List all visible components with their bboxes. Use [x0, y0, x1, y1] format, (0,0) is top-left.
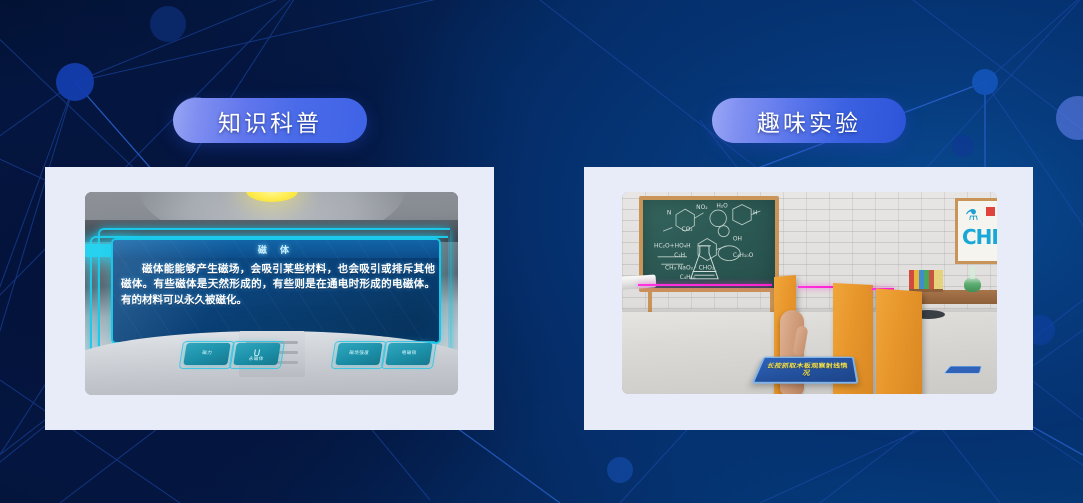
console-button-3[interactable]: 磁场强度: [335, 343, 382, 365]
console-button-4[interactable]: 电磁铁: [385, 343, 432, 365]
network-node: [607, 457, 633, 483]
console-button-3-label: 磁场强度: [349, 351, 370, 357]
console-button-2[interactable]: U 永磁体: [233, 343, 280, 365]
screen-title: 磁 体: [113, 240, 439, 258]
pill-label-knowledge: 知识科普: [218, 104, 322, 138]
network-node: [952, 135, 974, 157]
poster-title: CHE: [962, 225, 997, 249]
network-node: [972, 69, 998, 95]
svg-text:HC₂O+HO₄H: HC₂O+HO₄H: [654, 243, 691, 250]
svg-text:NO₂: NO₂: [696, 204, 708, 211]
info-display-screen: 磁 体 磁体能能够产生磁场，会吸引某些材料，也会吸引或排斥其他磁体。有些磁体是天…: [111, 238, 441, 344]
beaker-icon: [961, 266, 983, 292]
pill-label-experiment: 趣味实验: [757, 104, 861, 138]
photo-magnet-knowledge-screen: 磁 体 磁体能能够产生磁场，会吸引某些材料，也会吸引或排斥其他磁体。有些磁体是天…: [85, 192, 458, 395]
poster-red-mark: [986, 207, 995, 216]
card-fun-experiment[interactable]: NNO₂H₂O CO₂HOH HC₂O+HO₄HC₂H CH₃ NaO₂ · C…: [584, 167, 1033, 430]
chemistry-poster: ⚗ CHE: [955, 198, 997, 264]
svg-text:H₂O: H₂O: [716, 202, 728, 209]
tab-fun-experiment[interactable]: 趣味实验: [712, 98, 906, 143]
network-node: [150, 6, 186, 42]
svg-text:C₄H₁₀: C₄H₁₀: [680, 274, 696, 281]
tab-knowledge-popularization[interactable]: 知识科普: [173, 98, 367, 143]
svg-text:C₄H₁₀O: C₄H₁₀O: [733, 252, 754, 259]
network-node: [56, 63, 94, 101]
wall-shelf: [911, 290, 997, 304]
floor-marker-sign: [944, 366, 982, 373]
svg-text:N: N: [667, 210, 671, 217]
svg-text:OH: OH: [733, 235, 742, 242]
blackboard: NNO₂H₂O CO₂HOH HC₂O+HO₄HC₂H CH₃ NaO₂ · C…: [639, 196, 779, 292]
network-node-glow: [1056, 96, 1083, 140]
console-button-4-label: 电磁铁: [401, 351, 417, 357]
blackboard-formula-drawings: NNO₂H₂O CO₂HOH HC₂O+HO₄HC₂H CH₃ NaO₂ · C…: [643, 200, 775, 288]
svg-text:H: H: [753, 210, 757, 217]
instruction-sign-text: 长按抓取木板观察射线情况: [757, 362, 856, 377]
console-button-1-label: 磁力: [202, 351, 213, 357]
screen-body-text: 磁体能能够产生磁场，会吸引某些材料，也会吸引或排斥其他磁体。有些磁体是天然形成的…: [121, 262, 435, 308]
laser-beam-segment: [638, 284, 772, 286]
svg-text:CO₂: CO₂: [682, 226, 693, 233]
laser-beam-segment: [798, 286, 834, 288]
console-button-2-label: 永磁体: [234, 357, 279, 363]
console-button-1[interactable]: 磁力: [183, 343, 230, 365]
wooden-board-3[interactable]: [876, 288, 922, 394]
svg-text:CH₃ NaO₂ · CHO₂: CH₃ NaO₂ · CHO₂: [665, 265, 714, 272]
flask-icon: ⚗: [965, 206, 978, 224]
card-knowledge-popularization[interactable]: 磁 体 磁体能能够产生磁场，会吸引某些材料，也会吸引或排斥其他磁体。有些磁体是天…: [45, 167, 494, 430]
book-row: [909, 270, 943, 292]
photo-chemistry-lab-light-experiment: NNO₂H₂O CO₂HOH HC₂O+HO₄HC₂H CH₃ NaO₂ · C…: [622, 192, 997, 394]
svg-text:C₂H: C₂H: [674, 252, 685, 259]
instruction-sign: 长按抓取木板观察射线情况: [751, 357, 858, 384]
